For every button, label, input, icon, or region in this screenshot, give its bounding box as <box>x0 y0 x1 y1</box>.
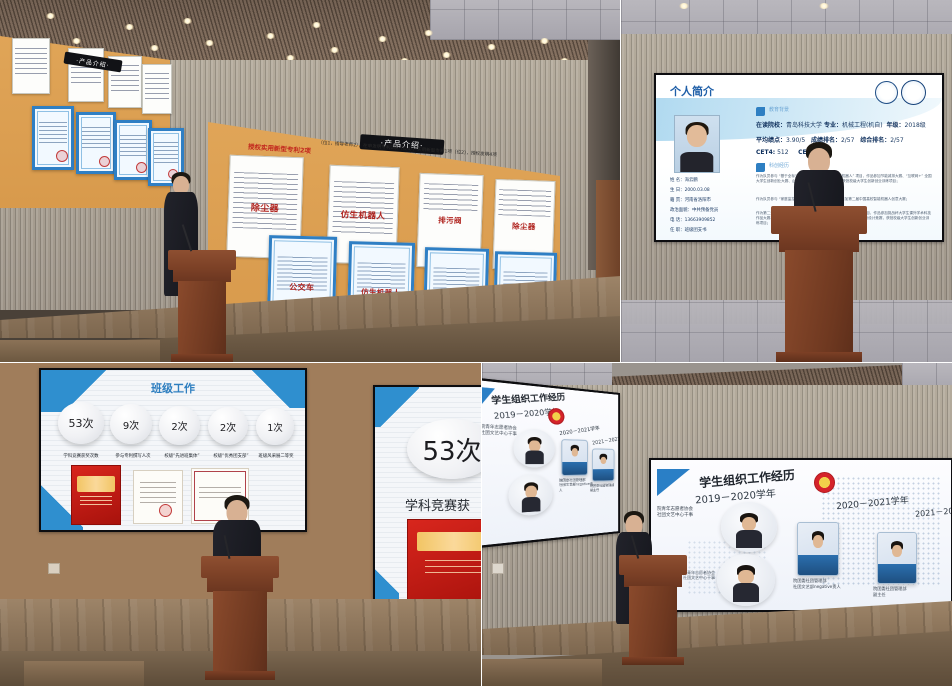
ceiling-light <box>72 38 81 44</box>
youth-league-emblem <box>814 472 835 493</box>
personal-value: 13663909852 <box>685 218 716 223</box>
personal-value: 河南省洛阳市 <box>685 198 711 203</box>
metric-value: 2次 <box>220 419 236 434</box>
personal-field: 政治面貌：中共预备党员 <box>670 207 718 213</box>
stage-step <box>0 340 160 363</box>
photo-bottom-right: 学生组织工作经历 2019－2020学年 院青年志愿者协会 社团文艺中心干事 2… <box>482 363 952 686</box>
portrait-oval <box>509 474 553 517</box>
personal-field: 姓 名：海云鹏 <box>670 177 698 183</box>
youth-league-emblem <box>548 408 564 426</box>
grade-label: 年级： <box>886 122 904 129</box>
metric-value: 53次 <box>422 431 481 468</box>
metric-value: 2次 <box>171 418 187 433</box>
certificate-name: 排污阀 <box>419 214 481 227</box>
ceiling-light <box>266 33 275 39</box>
personal-field: 任 职：班级团支书 <box>670 227 707 233</box>
metric-bubble: 1次 <box>256 408 294 445</box>
year-label: 2020－2021学年 <box>559 424 601 437</box>
personal-label: 生 日： <box>670 188 685 193</box>
major-label: 专业： <box>824 122 842 129</box>
ceiling-light <box>378 36 387 42</box>
personal-value: 班级团支书 <box>685 228 707 233</box>
certificate <box>114 120 152 180</box>
personal-label: 姓 名： <box>670 178 685 183</box>
collage-seam-vertical-top <box>620 0 621 363</box>
personal-field: 电 话：13663909852 <box>670 217 715 223</box>
personal-field: 籍 贯：河南省洛阳市 <box>670 197 711 203</box>
photo-bottom-left: 班级工作 53次 9次 2次 2次 1次 学科竞赛获奖次数 参与专利撰写人次 校… <box>0 363 482 686</box>
metric-bubble: 53次 <box>58 402 104 444</box>
certificate-name: 除尘器 <box>495 220 553 233</box>
role-note: 院团委社团管理部 社团文艺部negative责人 <box>559 478 594 493</box>
wall-switch-plate <box>492 563 504 574</box>
ceiling-light <box>442 52 451 58</box>
wall-switch-plate <box>48 563 60 574</box>
role-note: 院青年志愿者协会 社团文艺中心干事 <box>657 507 715 519</box>
ceiling-light <box>312 22 321 28</box>
personal-label: 政治面貌： <box>670 208 692 213</box>
portrait-oval <box>717 554 775 606</box>
certificate <box>12 38 50 94</box>
grade-value: 2018级 <box>905 122 926 129</box>
certificate-name: 公交车 <box>271 281 333 294</box>
podium <box>201 556 279 680</box>
certificate <box>32 106 74 170</box>
university-emblem <box>875 81 898 104</box>
ceiling-light <box>205 40 214 46</box>
ceiling-light <box>125 24 134 30</box>
overall-rank-value: 2/57 <box>890 137 903 144</box>
led-screen-org-work-left: 学生组织工作经历 2019－2020学年 院青年志愿者协会 社团文艺中心干事 2… <box>482 377 620 549</box>
metric-bubble: 2次 <box>159 406 200 445</box>
led-screen-class-work-right: 53次 学科竞赛获 <box>373 385 482 609</box>
stage-step <box>24 661 144 686</box>
metric-value: 9次 <box>123 417 139 432</box>
award-certificate-patent <box>133 470 183 524</box>
personal-value: 中共预备党员 <box>692 208 718 213</box>
ceiling-light <box>487 44 496 50</box>
ceiling-light <box>150 45 159 51</box>
school-value: 青岛科技大学 <box>786 122 822 129</box>
led-screen-class-work: 班级工作 53次 9次 2次 2次 1次 学科竞赛获奖次数 参与专利撰写人次 校… <box>39 368 307 532</box>
slide-title: 个人简介 <box>670 83 714 99</box>
podium <box>771 206 867 363</box>
profile-photo <box>674 115 720 173</box>
slide-org-work-left: 学生组织工作经历 2019－2020学年 院青年志愿者协会 社团文艺中心干事 2… <box>482 380 618 547</box>
podium <box>168 250 236 362</box>
metric-label: 班级风采展二等奖 <box>245 453 307 459</box>
overall-rank-label: 综合排名： <box>860 137 890 144</box>
organization-emblem <box>901 80 926 105</box>
id-card <box>797 522 839 576</box>
metric-bubble: 9次 <box>110 404 152 444</box>
stage-step <box>482 659 602 686</box>
ceiling-light <box>330 47 339 53</box>
certificate <box>142 64 172 114</box>
certificate <box>76 112 116 174</box>
portrait-oval <box>513 428 554 468</box>
personal-value: 2000.03.08 <box>685 188 710 193</box>
cet4-label: CET4: <box>756 149 775 156</box>
research-section-label: 科创经历 <box>769 162 789 169</box>
ceiling-light <box>46 13 55 19</box>
photo-top-right: 个人简介 教育背景 在读院校：青岛科技大学 专业：机械工程(机自) 年级：201… <box>621 0 952 363</box>
major-value: 机械工程(机自) <box>842 122 883 129</box>
collage-root: ·产品介绍· ·产品介绍· 授权实用新型专利2项 （位1，指导老师2），在申发明… <box>0 0 952 686</box>
id-card <box>877 532 917 584</box>
portrait-oval <box>721 502 777 552</box>
metric-value: 1次 <box>267 420 283 434</box>
ceiling-light <box>540 38 549 44</box>
personal-label: 电 话： <box>670 218 685 223</box>
personal-field: 生 日：2000.03.08 <box>670 187 710 193</box>
ceiling-light <box>183 18 192 24</box>
slide-title: 学生组织工作经历 <box>490 391 566 407</box>
role-note: 院团委社团管理部 副主任 <box>873 586 925 597</box>
certificate-name: 仿生机器人 <box>329 208 397 222</box>
award-certificate-red <box>407 519 482 607</box>
ceiling-light <box>679 3 689 9</box>
role-note: 院团委社团管理部 副主任 <box>590 483 618 493</box>
collage-seam-vertical-bottom <box>481 363 482 686</box>
metric-value: 53次 <box>69 415 94 431</box>
slide-org-work: 学生组织工作经历 2019－2020学年 2020－2021学年 2021－20… <box>651 460 951 610</box>
award-certificate-red <box>71 465 121 525</box>
photo-top-left: ·产品介绍· ·产品介绍· 授权实用新型专利2项 （位1，指导老师2），在申发明… <box>0 0 621 363</box>
school-row: 在读院校：青岛科技大学 专业：机械工程(机自) 年级：2018级 <box>756 120 926 129</box>
research-section-marker <box>756 163 765 172</box>
ceiling-tiles <box>430 0 621 40</box>
education-section-marker <box>756 107 765 116</box>
role-note-secondary: 院青年志愿者协会 社团文艺中心干事 <box>683 570 723 581</box>
education-section-label: 教育背景 <box>769 106 789 113</box>
metric-bubble: 2次 <box>208 407 248 445</box>
id-card <box>592 448 615 481</box>
personal-label: 任 职： <box>670 228 685 233</box>
led-screen-org-work-main: 学生组织工作经历 2019－2020学年 2020－2021学年 2021－20… <box>649 458 952 612</box>
cet4-value: 512 <box>777 149 788 156</box>
collage-seam-horizontal <box>0 362 952 363</box>
metric-label: 学科竞赛获 <box>405 495 482 514</box>
gpa-label: 平均绩点： <box>756 137 786 144</box>
podium <box>619 555 687 665</box>
year-label: 2021－2022学年 <box>592 434 620 447</box>
id-card <box>561 439 588 476</box>
ceiling-light <box>424 30 433 36</box>
certificate-name: 除尘器 <box>229 200 301 216</box>
role-note: 院团委社团管理部 社团文艺部negative责人 <box>793 578 845 589</box>
school-label: 在读院校： <box>756 122 786 129</box>
personal-value: 海云鹏 <box>685 178 698 183</box>
slide-class-work-zoom: 53次 学科竞赛获 <box>375 387 482 607</box>
slide-title: 班级工作 <box>41 380 305 396</box>
personal-label: 籍 贯： <box>670 198 685 203</box>
ceiling-light <box>819 3 829 9</box>
